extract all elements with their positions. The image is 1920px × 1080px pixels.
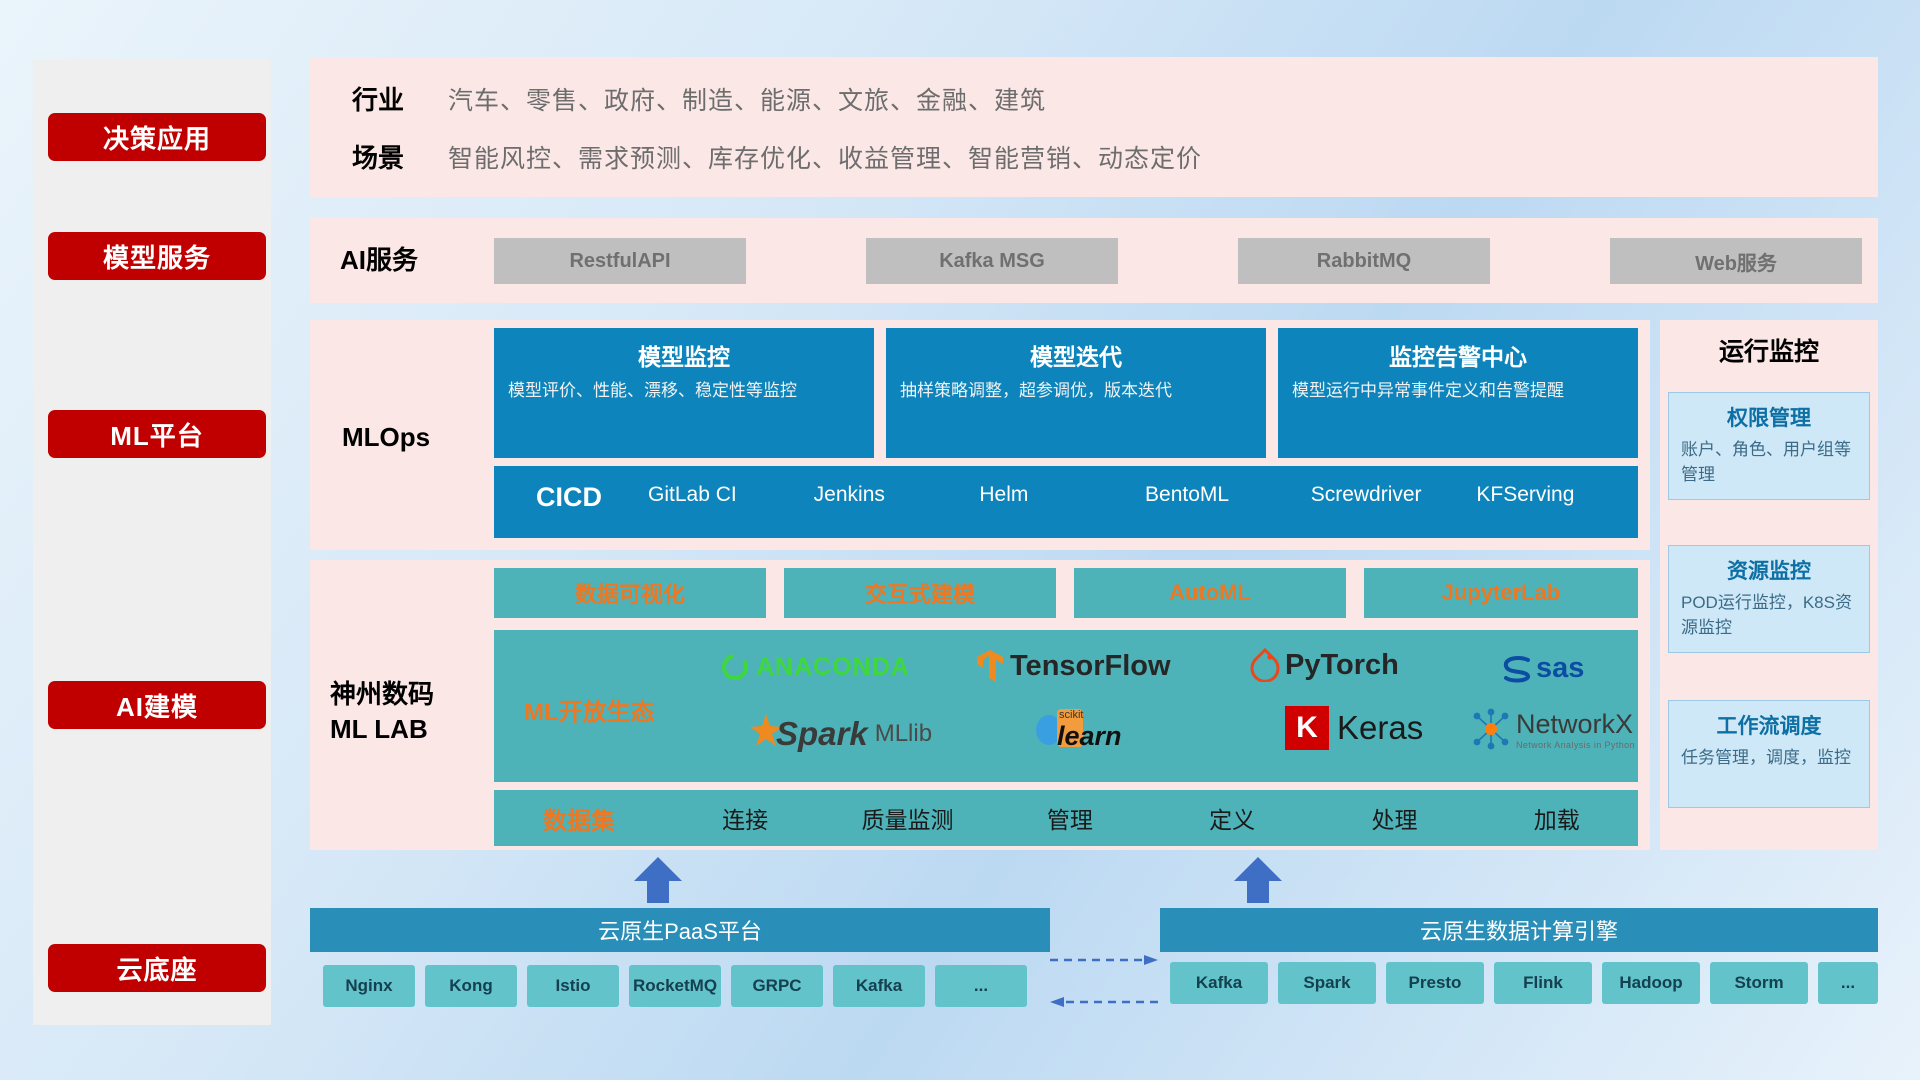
ml-ecosystem-label: ML开放生态 [524,692,655,727]
cicd-item-helm[interactable]: Helm [975,482,1141,507]
cloud-chip-label: ... [1841,974,1855,993]
engine-chip-storm[interactable]: Storm [1710,962,1808,1004]
cloud-chip-more[interactable]: ... [935,965,1027,1007]
tool-chip-data-visualization[interactable]: 数据可视化 [494,568,766,618]
cicd-item-kfserving[interactable]: KFServing [1472,482,1638,507]
service-chip-label: Kafka MSG [939,250,1045,273]
cicd-item-gitlab-ci[interactable]: GitLab CI [644,482,810,507]
engine-chip-spark[interactable]: Spark [1278,962,1376,1004]
service-chip-label: Web服务 [1695,247,1777,276]
card-title: 监控告警中心 [1292,338,1624,372]
ai-service-label: AI服务 [340,243,418,278]
card-desc: 模型运行中异常事件定义和告警提醒 [1292,379,1624,404]
service-chip-web-service[interactable]: Web服务 [1610,238,1862,284]
stage-chip-label: 云底座 [116,950,197,987]
stage-chip-decision[interactable]: 决策应用 [48,113,266,161]
stage-chip-cloud-base[interactable]: 云底座 [48,944,266,992]
tensorflow-logo-text: TensorFlow [1010,650,1171,683]
spark-logo-text: Spark [776,715,868,753]
dataset-strip: 数据集 连接 质量监测 管理 定义 处理 加载 [494,790,1638,846]
cloud-chip-label: RocketMQ [633,977,717,996]
stage-chip-label: 模型服务 [103,238,211,275]
monitor-card-workflow[interactable]: 工作流调度 任务管理，调度，监控 [1668,700,1870,808]
service-chip-label: RabbitMQ [1317,250,1411,273]
mlops-label: MLOps [342,420,430,455]
paas-platform-bar[interactable]: 云原生PaaS平台 [310,908,1050,952]
card-title: 权限管理 [1681,402,1857,432]
tensorflow-icon [975,648,1005,684]
networkx-logo: NetworkX Network Analysis in Python [1470,708,1635,750]
engine-chip-kafka[interactable]: Kafka [1170,962,1268,1004]
card-title: 模型迭代 [900,338,1252,372]
networkx-icon [1470,708,1512,750]
stage-chip-ml-platform[interactable]: ML平台 [48,410,266,458]
sas-logo: sas [1500,652,1584,685]
monitor-card-resource[interactable]: 资源监控 POD运行监控，K8S资源监控 [1668,545,1870,653]
tool-chip-jupyterlab[interactable]: JupyterLab [1364,568,1638,618]
card-title: 工作流调度 [1681,710,1857,740]
engine-chip-hadoop[interactable]: Hadoop [1602,962,1700,1004]
pytorch-logo: PyTorch [1250,648,1399,682]
mllab-label-en: ML LAB [330,712,490,747]
decision-band [310,57,1878,197]
cicd-label: CICD [494,482,644,513]
stage-chip-model-service[interactable]: 模型服务 [48,232,266,280]
learn-logo-text: learn [1057,721,1122,752]
spark-mllib-logo: Spark MLlib [740,712,932,756]
industry-value: 汽车、零售、政府、制造、能源、文旅、金融、建筑 [448,81,1046,117]
sas-icon [1500,654,1534,684]
scenario-value: 智能风控、需求预测、库存优化、收益管理、智能营销、动态定价 [448,139,1202,175]
card-title: 模型监控 [508,338,860,372]
scikit-logo-text: scikit [1059,709,1083,721]
sas-logo-text: sas [1536,652,1584,685]
card-desc: POD运行监控，K8S资源监控 [1681,591,1857,640]
cloud-chip-kong[interactable]: Kong [425,965,517,1007]
cloud-chip-label: Flink [1523,974,1563,993]
engine-up-arrow-icon [1230,855,1286,903]
keras-logo-text: Keras [1337,709,1423,747]
tool-chip-label: 数据可视化 [575,577,685,609]
dataset-item-manage[interactable]: 管理 [989,801,1151,835]
monitor-card-permission[interactable]: 权限管理 账户、角色、用户组等管理 [1668,392,1870,500]
card-desc: 账户、角色、用户组等管理 [1681,438,1857,487]
cloud-chip-label: ... [974,977,988,996]
data-engine-bar[interactable]: 云原生数据计算引擎 [1160,908,1878,952]
card-desc: 模型评价、性能、漂移、稳定性等监控 [508,379,860,404]
stage-rail [33,60,271,1025]
engine-chip-presto[interactable]: Presto [1386,962,1484,1004]
cicd-strip: CICD GitLab CI Jenkins Helm BentoML Scre… [494,466,1638,538]
cloud-chip-label: Nginx [345,977,392,996]
monitoring-title: 运行监控 [1660,332,1878,368]
anaconda-icon [720,652,750,682]
tool-chip-label: 交互式建模 [865,577,975,609]
cloud-chip-label: Hadoop [1619,974,1682,993]
dataset-item-process[interactable]: 处理 [1313,801,1475,835]
mlops-card-model-monitoring[interactable]: 模型监控 模型评价、性能、漂移、稳定性等监控 [494,328,874,458]
mllab-label: 神州数码 ML LAB [330,677,490,747]
paas-platform-label: 云原生PaaS平台 [598,914,762,946]
dataset-label: 数据集 [494,801,664,836]
cloud-chip-label: Presto [1409,974,1462,993]
engine-chip-flink[interactable]: Flink [1494,962,1592,1004]
scikit-learn-logo: scikit learn [1035,705,1083,751]
service-chip-rabbitmq[interactable]: RabbitMQ [1238,238,1490,284]
keras-icon: K [1285,706,1329,750]
card-desc: 抽样策略调整，超参调优，版本迭代 [900,379,1252,404]
keras-logo: K Keras [1285,706,1423,750]
scenario-row: 场景 智能风控、需求预测、库存优化、收益管理、智能营销、动态定价 [352,138,1852,175]
card-desc: 任务管理，调度，监控 [1681,746,1857,771]
mlops-card-model-iteration[interactable]: 模型迭代 抽样策略调整，超参调优，版本迭代 [886,328,1266,458]
bidirectional-dashed-connector [1050,952,1160,1012]
stage-chip-label: ML平台 [110,416,204,453]
mlops-card-alert-center[interactable]: 监控告警中心 模型运行中异常事件定义和告警提醒 [1278,328,1638,458]
cloud-chip-label: Kafka [1196,974,1242,993]
card-title: 资源监控 [1681,555,1857,585]
data-engine-label: 云原生数据计算引擎 [1420,914,1618,946]
anaconda-logo-text: ANACONDA [756,653,910,682]
stage-chip-label: AI建模 [116,687,198,724]
networkx-logo-text: NetworkX [1516,709,1635,740]
dataset-item-quality-monitor[interactable]: 质量监测 [826,801,988,835]
engine-chip-more[interactable]: ... [1818,962,1878,1004]
mllab-label-cn: 神州数码 [330,677,490,712]
tensorflow-logo: TensorFlow [975,648,1171,684]
cloud-chip-label: Istio [556,977,591,996]
pytorch-icon [1250,648,1280,682]
cloud-chip-label: GRPC [752,977,801,996]
dataset-item-define[interactable]: 定义 [1151,801,1313,835]
cloud-chip-istio[interactable]: Istio [527,965,619,1007]
industry-row: 行业 汽车、零售、政府、制造、能源、文旅、金融、建筑 [352,80,1852,117]
tool-chip-automl[interactable]: AutoML [1074,568,1346,618]
service-chip-restfulapi[interactable]: RestfulAPI [494,238,746,284]
dataset-item-connect[interactable]: 连接 [664,801,826,835]
cloud-chip-label: Spark [1303,974,1350,993]
cloud-chip-nginx[interactable]: Nginx [323,965,415,1007]
tool-chip-interactive-modeling[interactable]: 交互式建模 [784,568,1056,618]
architecture-diagram: 决策应用 模型服务 ML平台 AI建模 云底座 行业 汽车、零售、政府、制造、能… [0,0,1920,1080]
industry-label: 行业 [352,80,448,117]
mllib-logo-text: MLlib [875,720,932,748]
cloud-chip-label: Kafka [856,977,902,996]
tool-chip-label: AutoML [1169,580,1251,606]
anaconda-logo: ANACONDA [720,652,910,682]
paas-up-arrow-icon [630,855,686,903]
service-chip-label: RestfulAPI [569,250,670,273]
scenario-label: 场景 [352,138,448,175]
pytorch-logo-text: PyTorch [1285,649,1399,682]
cloud-chip-kafka[interactable]: Kafka [833,965,925,1007]
stage-chip-ai-modeling[interactable]: AI建模 [48,681,266,729]
cicd-item-jenkins[interactable]: Jenkins [810,482,976,507]
dataset-item-load[interactable]: 加载 [1476,801,1638,835]
tool-chip-label: JupyterLab [1442,580,1561,606]
cloud-chip-grpc[interactable]: GRPC [731,965,823,1007]
cicd-item-bentoml[interactable]: BentoML [1141,482,1307,507]
cloud-chip-label: Kong [449,977,492,996]
cicd-item-screwdriver[interactable]: Screwdriver [1307,482,1473,507]
service-chip-kafka-msg[interactable]: Kafka MSG [866,238,1118,284]
cloud-chip-label: Storm [1734,974,1783,993]
cloud-chip-rocketmq[interactable]: RocketMQ [629,965,721,1007]
stage-chip-label: 决策应用 [103,119,211,156]
networkx-logo-subtext: Network Analysis in Python [1516,740,1635,750]
